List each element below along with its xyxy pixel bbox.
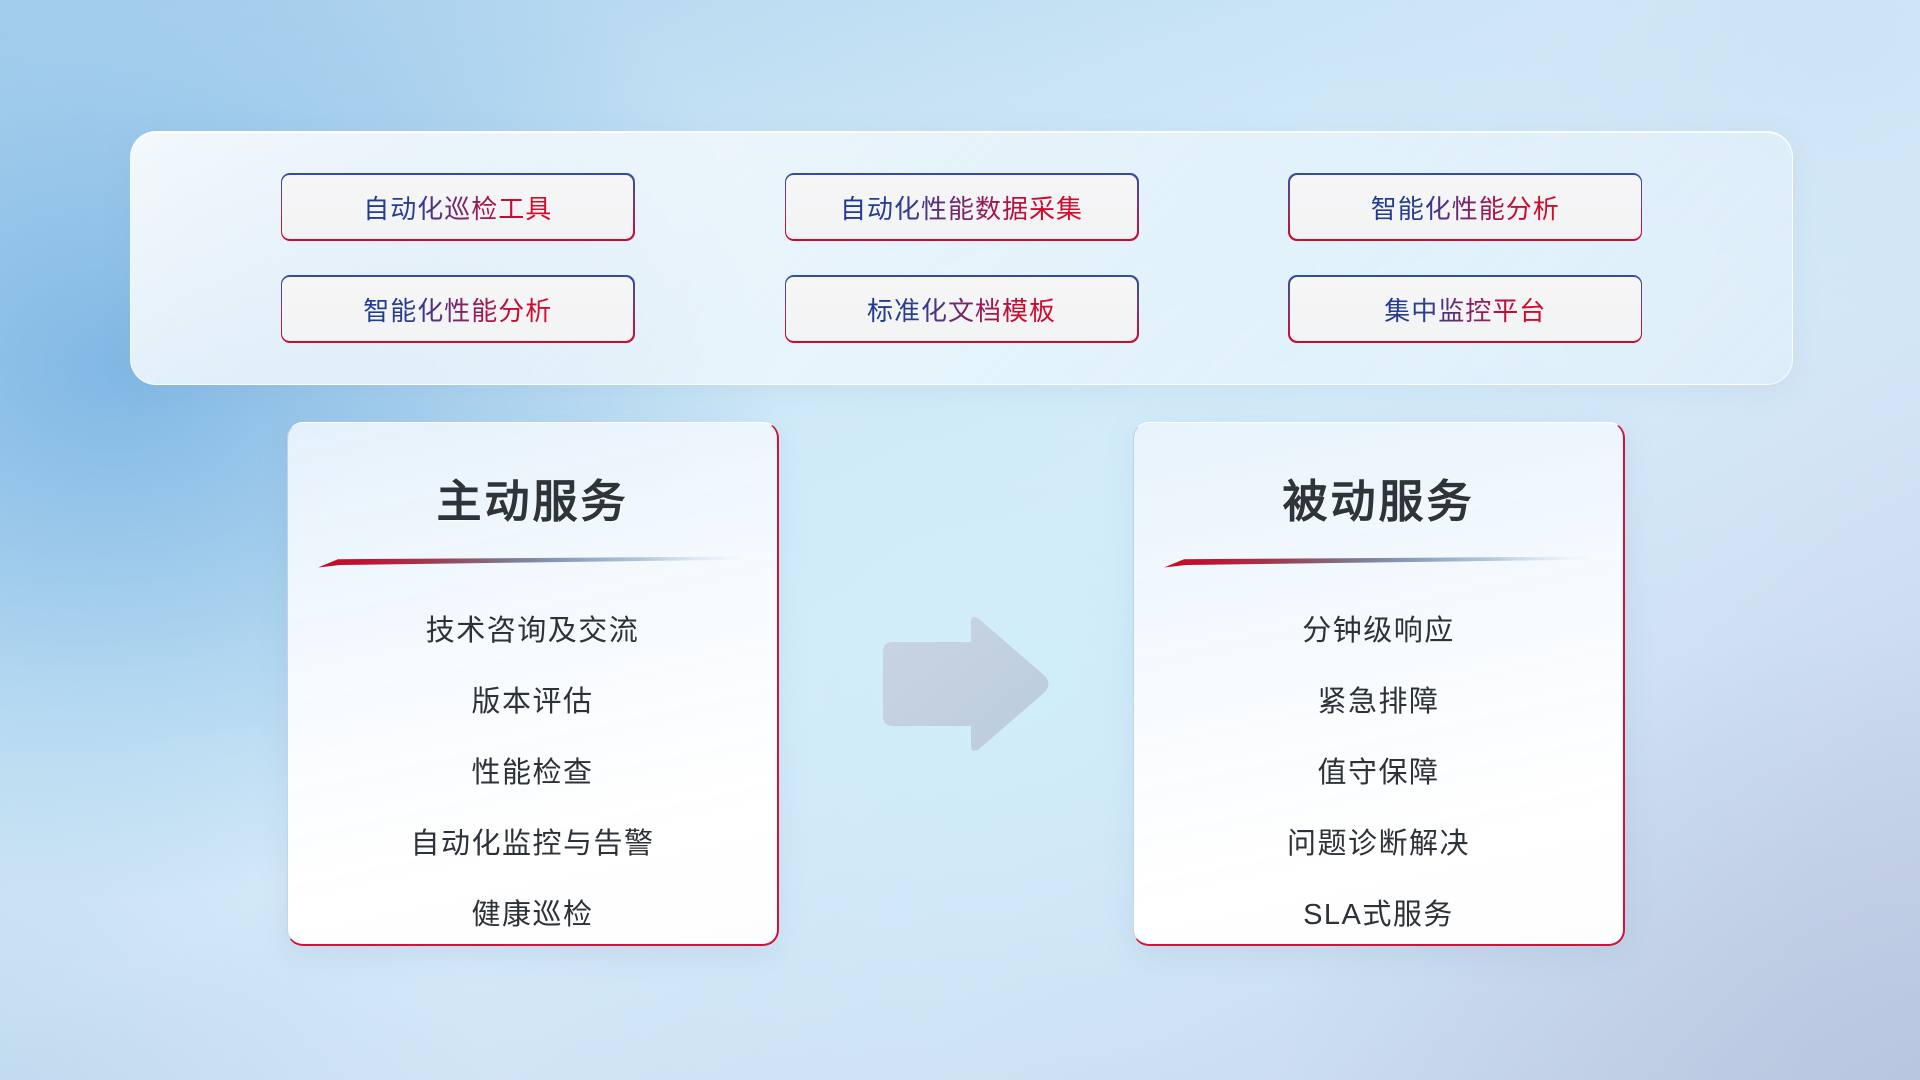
capability-pill-6-label: 集中监控平台 bbox=[1384, 291, 1546, 328]
list-item: 问题诊断解决 bbox=[1134, 809, 1623, 880]
list-item: 自动化监控与告警 bbox=[288, 809, 777, 880]
title-divider-reactive bbox=[1164, 556, 1594, 570]
service-card-reactive-title: 被动服务 bbox=[1134, 465, 1623, 530]
service-list-proactive: 技术咨询及交流 版本评估 性能检查 自动化监控与告警 健康巡检 bbox=[288, 596, 777, 946]
capability-pill-2[interactable]: 自动化性能数据采集 bbox=[785, 173, 1139, 241]
capability-pill-2-inner: 自动化性能数据采集 bbox=[786, 175, 1137, 240]
service-card-reactive: 被动服务 bbox=[1133, 422, 1625, 946]
list-item: 性能检查 bbox=[288, 738, 777, 809]
capability-panel: 自动化巡检工具 自动化性能数据采集 智能化性能分析 智能化性能分析 bbox=[130, 131, 1793, 385]
list-item: 紧急排障 bbox=[1134, 667, 1623, 738]
capability-pill-5-inner: 标准化文档模板 bbox=[786, 277, 1137, 342]
capability-pill-1-inner: 自动化巡检工具 bbox=[282, 175, 633, 240]
service-card-proactive-title: 主动服务 bbox=[288, 465, 777, 530]
capability-pill-1[interactable]: 自动化巡检工具 bbox=[281, 173, 635, 241]
right-arrow-icon bbox=[875, 614, 1050, 754]
capability-pill-3-inner: 智能化性能分析 bbox=[1290, 175, 1641, 240]
slide-canvas: 自动化巡检工具 自动化性能数据采集 智能化性能分析 智能化性能分析 bbox=[0, 0, 1920, 1080]
service-list-reactive: 分钟级响应 紧急排障 值守保障 问题诊断解决 SLA式服务 bbox=[1134, 596, 1623, 946]
list-item: 健康巡检 bbox=[288, 880, 777, 946]
capability-pill-grid: 自动化巡检工具 自动化性能数据采集 智能化性能分析 智能化性能分析 bbox=[131, 132, 1792, 384]
capability-pill-4[interactable]: 智能化性能分析 bbox=[281, 275, 635, 343]
list-item: 版本评估 bbox=[288, 667, 777, 738]
title-divider-proactive bbox=[318, 556, 748, 570]
capability-pill-5[interactable]: 标准化文档模板 bbox=[785, 275, 1139, 343]
capability-pill-3[interactable]: 智能化性能分析 bbox=[1288, 173, 1642, 241]
list-item: 技术咨询及交流 bbox=[288, 596, 777, 667]
capability-pill-2-label: 自动化性能数据采集 bbox=[840, 189, 1083, 226]
capability-pill-6[interactable]: 集中监控平台 bbox=[1288, 275, 1642, 343]
capability-pill-1-label: 自动化巡检工具 bbox=[363, 189, 552, 226]
capability-pill-3-label: 智能化性能分析 bbox=[1371, 189, 1560, 226]
list-item: 分钟级响应 bbox=[1134, 596, 1623, 667]
service-card-proactive: 主动服务 bbox=[287, 422, 779, 946]
capability-pill-5-label: 标准化文档模板 bbox=[867, 291, 1056, 328]
capability-pill-4-inner: 智能化性能分析 bbox=[282, 277, 633, 342]
list-item: 值守保障 bbox=[1134, 738, 1623, 809]
capability-pill-4-label: 智能化性能分析 bbox=[363, 291, 552, 328]
capability-pill-6-inner: 集中监控平台 bbox=[1290, 277, 1641, 342]
list-item: SLA式服务 bbox=[1134, 880, 1623, 946]
